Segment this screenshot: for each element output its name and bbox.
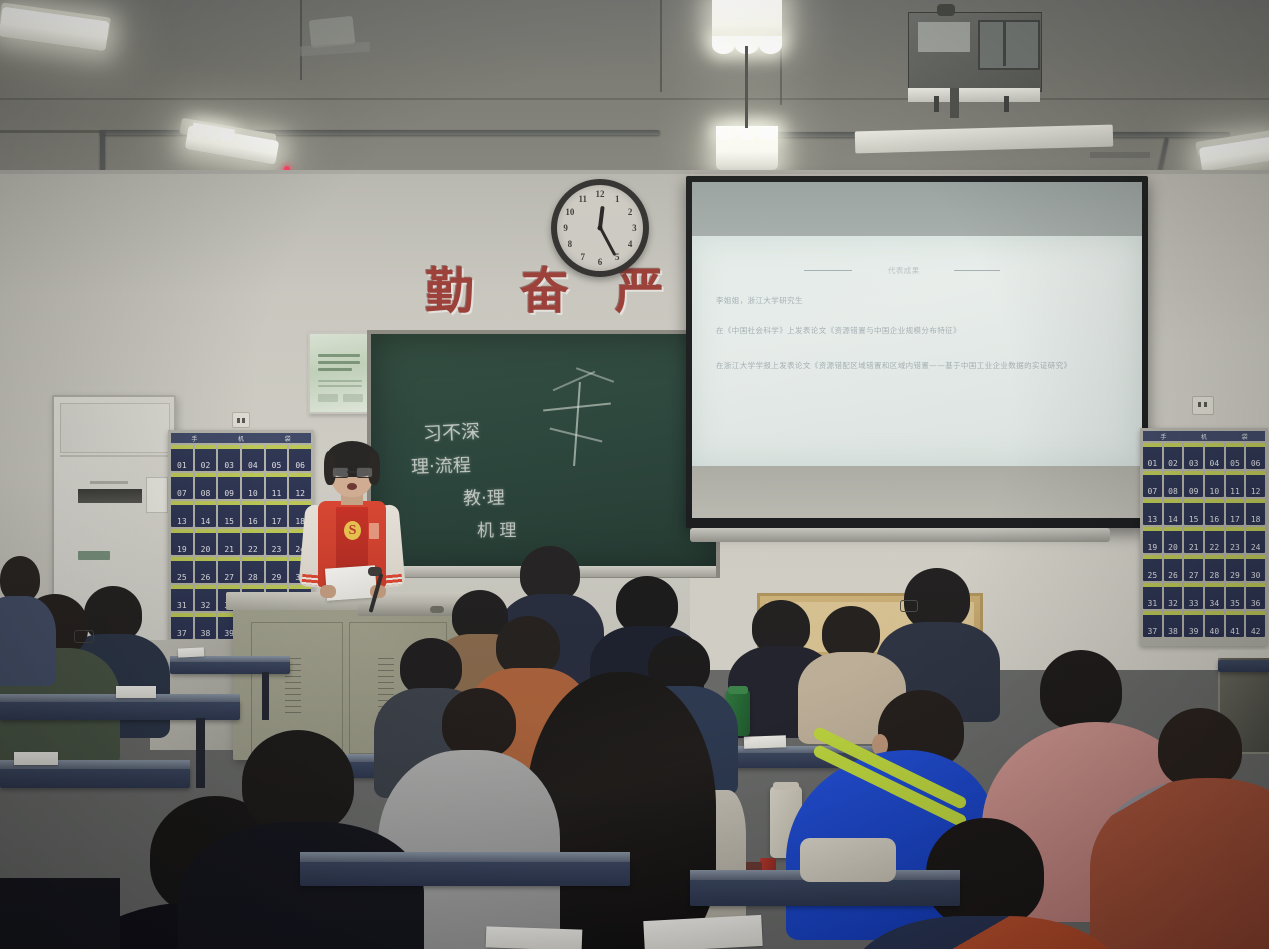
projector-window	[978, 20, 1040, 70]
clock-numeral: 2	[628, 207, 633, 217]
thermos-cap	[773, 782, 799, 790]
phone-pocket-11[interactable]: 11	[266, 473, 288, 499]
phone-pocket-11[interactable]: 11	[1226, 471, 1245, 497]
chalk-sketch-stroke	[573, 382, 581, 466]
phone-pocket-35[interactable]: 35	[1226, 583, 1245, 609]
phone-pocket-38[interactable]: 38	[1164, 611, 1183, 637]
presenter-mouth	[347, 483, 357, 490]
camera-mount	[937, 4, 955, 16]
phone-pocket-07[interactable]: 07	[1143, 471, 1162, 497]
chalk-sketch-stroke	[576, 367, 614, 383]
rack-label-char-3: 袋	[1242, 432, 1248, 441]
desk	[1218, 660, 1269, 672]
light-stem	[745, 46, 748, 128]
phone-pocket-13[interactable]: 13	[171, 501, 193, 527]
phone-pocket-37[interactable]: 37	[171, 613, 193, 639]
phone-pocket-21[interactable]: 21	[218, 529, 240, 555]
phone-pocket-16[interactable]: 16	[1205, 499, 1224, 525]
phone-pocket-22[interactable]: 22	[242, 529, 264, 555]
cabinet-top	[1218, 650, 1269, 658]
phone-pocket-05[interactable]: 05	[1226, 443, 1245, 469]
phone-pocket-03[interactable]: 03	[1184, 443, 1203, 469]
desk-leg	[196, 718, 205, 788]
glasses-lens-right	[356, 467, 373, 478]
wall-trim	[0, 170, 1269, 174]
chalk-text: 机 理	[477, 516, 516, 541]
phone-pocket-31[interactable]: 31	[171, 585, 193, 611]
ceiling-seam	[300, 0, 302, 80]
rack-label-char-2: 机	[238, 434, 244, 443]
phone-pocket-30[interactable]: 30	[1246, 555, 1265, 581]
presenter-hand-left	[320, 585, 336, 598]
chalk-text: 习不深	[422, 417, 480, 447]
presenter-at-podium: S	[296, 445, 408, 615]
screen-roller-bar	[690, 528, 1110, 542]
desk	[300, 860, 630, 886]
glasses-bridge	[347, 471, 356, 473]
wall-clock: 12 1 2 3 4 5 6 7 8 9 10 11	[551, 179, 649, 277]
clock-numeral: 12	[596, 189, 605, 199]
phone-pocket-15[interactable]: 15	[218, 501, 240, 527]
phone-pocket-02[interactable]: 02	[195, 445, 217, 471]
phone-pocket-07[interactable]: 07	[171, 473, 193, 499]
clock-numeral: 11	[579, 194, 588, 204]
presenter-shirt	[336, 507, 368, 573]
projector-window	[918, 22, 970, 52]
desk	[0, 700, 240, 720]
phone-pocket-24[interactable]: 24	[1246, 527, 1265, 553]
lectern-knob	[430, 606, 444, 613]
phone-pocket-22[interactable]: 22	[1205, 527, 1224, 553]
slogan-char-1: 勤	[425, 267, 474, 316]
desk	[170, 660, 290, 674]
paper-on-desk	[744, 735, 786, 748]
screen-lower-band	[692, 466, 1142, 518]
phone-pocket-38[interactable]: 38	[195, 613, 217, 639]
clock-center	[598, 226, 603, 231]
clock-numeral: 6	[598, 257, 603, 267]
phone-pocket-25[interactable]: 25	[1143, 555, 1162, 581]
phone-pocket-10[interactable]: 10	[242, 473, 264, 499]
phone-pocket-01[interactable]: 01	[171, 445, 193, 471]
power-outlet[interactable]	[232, 412, 250, 428]
chalk-text: 理·流程	[411, 451, 472, 479]
screen-upper-band	[692, 182, 1142, 238]
power-outlet[interactable]	[1192, 396, 1214, 415]
foreground-shadow	[0, 878, 120, 949]
phone-pocket-39[interactable]: 39	[1184, 611, 1203, 637]
paper-on-desk	[178, 647, 204, 657]
clock-numeral: 4	[628, 239, 633, 249]
phone-pocket-14[interactable]: 14	[1164, 499, 1183, 525]
phone-pocket-32[interactable]: 32	[1164, 583, 1183, 609]
phone-pocket-27[interactable]: 27	[218, 557, 240, 583]
glasses	[74, 630, 94, 643]
phone-pocket-37[interactable]: 37	[1143, 611, 1162, 637]
phone-pocket-40[interactable]: 40	[1205, 611, 1224, 637]
phone-pocket-08[interactable]: 08	[195, 473, 217, 499]
slide-line-1: 李姐姐，浙江大学研究生	[716, 295, 803, 306]
wall-poster	[308, 332, 372, 414]
slide-line-3: 在浙江大学学报上发表论文《资源错配区域错置和区域内错置——基于中国工业企业数据的…	[716, 360, 1072, 371]
glasses	[900, 600, 918, 612]
phone-pocket-17[interactable]: 17	[266, 501, 288, 527]
mount-bracket	[1004, 96, 1009, 112]
slogan-char-3: 严	[615, 267, 664, 316]
clock-numeral: 7	[581, 252, 586, 262]
phone-pocket-16[interactable]: 16	[242, 501, 264, 527]
ceiling	[0, 0, 1269, 185]
rack-label-char-3: 袋	[285, 434, 291, 443]
clock-numeral: 8	[568, 239, 573, 249]
phone-pocket-19[interactable]: 19	[1143, 527, 1162, 553]
screen-projection-area: 代表成果 李姐姐，浙江大学研究生 在《中国社会科学》上发表论文《资源错置与中国企…	[692, 236, 1142, 466]
phone-pocket-28[interactable]: 28	[1205, 555, 1224, 581]
desk	[690, 878, 960, 906]
phone-pocket-15[interactable]: 15	[1184, 499, 1203, 525]
rack-label-char-2: 机	[1201, 432, 1207, 441]
phone-pocket-26[interactable]: 26	[1164, 555, 1183, 581]
projector-mount	[908, 88, 1040, 102]
chalk-text: 教·理	[463, 484, 505, 511]
desk-leg	[262, 672, 269, 720]
ac-brand-label	[78, 551, 110, 560]
phone-pocket-41[interactable]: 41	[1226, 611, 1245, 637]
phone-pocket-04[interactable]: 04	[1205, 443, 1224, 469]
slide-header: 代表成果	[888, 265, 920, 276]
phone-pocket-42[interactable]: 42	[1246, 611, 1265, 637]
phone-pocket-02[interactable]: 02	[1164, 443, 1183, 469]
phone-pocket-26[interactable]: 26	[195, 557, 217, 583]
phone-pocket-36[interactable]: 36	[1246, 583, 1265, 609]
wall-marking	[1090, 152, 1150, 158]
phone-pocket-23[interactable]: 23	[266, 529, 288, 555]
phone-pocket-34[interactable]: 34	[1205, 583, 1224, 609]
bottle-cap	[728, 686, 748, 694]
phone-pocket-05[interactable]: 05	[266, 445, 288, 471]
phone-pocket-23[interactable]: 23	[1226, 527, 1245, 553]
phone-pocket-21[interactable]: 21	[1184, 527, 1203, 553]
slide-line-2: 在《中国社会科学》上发表论文《资源错置与中国企业规模分布特征》	[716, 325, 961, 336]
paper-on-desk	[14, 752, 58, 765]
paper-on-desk	[486, 926, 583, 949]
phone-pocket-20[interactable]: 20	[195, 529, 217, 555]
phone-pocket-25[interactable]: 25	[171, 557, 193, 583]
ceiling-seam	[660, 0, 662, 92]
phone-pocket-08[interactable]: 08	[1164, 471, 1183, 497]
green-blackboard: 习不深 理·流程 教·理 机 理	[367, 330, 720, 578]
pocket-grid: 0102030405060708091011121314151617181920…	[1143, 443, 1265, 637]
rack-label: 手 机 袋	[1143, 431, 1265, 441]
rack-label-char-1: 手	[1160, 432, 1166, 441]
phone-pocket-31[interactable]: 31	[1143, 583, 1162, 609]
projector-lens	[950, 88, 959, 118]
clock-numeral: 3	[632, 223, 637, 233]
paper-on-desk	[116, 686, 156, 698]
rack-label-char-1: 手	[191, 434, 197, 443]
phone-pocket-14[interactable]: 14	[195, 501, 217, 527]
light-scallop	[716, 126, 778, 140]
folded-cloth	[800, 838, 896, 882]
phone-pocket-18[interactable]: 18	[1246, 499, 1265, 525]
clock-numeral: 1	[615, 194, 620, 204]
phone-pocket-10[interactable]: 10	[1205, 471, 1224, 497]
phone-pocket-20[interactable]: 20	[1164, 527, 1183, 553]
phone-pocket-29[interactable]: 29	[1226, 555, 1245, 581]
paper-on-desk	[643, 915, 762, 949]
phone-pocket-29[interactable]: 29	[266, 557, 288, 583]
clock-numeral: 9	[563, 223, 568, 233]
rack-label: 手 机 袋	[171, 433, 311, 443]
phone-pocket-03[interactable]: 03	[218, 445, 240, 471]
desk	[0, 766, 190, 788]
phone-pocket-19[interactable]: 19	[171, 529, 193, 555]
phone-pocket-09[interactable]: 09	[218, 473, 240, 499]
phone-pocket-06[interactable]: 06	[1246, 443, 1265, 469]
phone-pocket-33[interactable]: 33	[1184, 583, 1203, 609]
mount-bracket	[934, 96, 939, 112]
phone-pocket-13[interactable]: 13	[1143, 499, 1162, 525]
projector-divider	[1003, 20, 1006, 66]
vest-badge	[369, 523, 379, 539]
phone-pocket-28[interactable]: 28	[242, 557, 264, 583]
desk-edge	[300, 852, 630, 862]
ceiling-seam	[0, 98, 1269, 100]
clock-numeral: 10	[565, 207, 574, 217]
projection-screen[interactable]: 代表成果 李姐姐，浙江大学研究生 在《中国社会科学》上发表论文《资源错置与中国企…	[686, 176, 1148, 528]
phone-pocket-rack-right[interactable]: 手 机 袋 0102030405060708091011121314151617…	[1140, 428, 1268, 646]
phone-pocket-09[interactable]: 09	[1184, 471, 1203, 497]
classroom-photo: 勤 奋 严 谨 12 1 2 3 4 5 6 7 8 9 10 11	[0, 0, 1269, 949]
phone-pocket-04[interactable]: 04	[242, 445, 264, 471]
phone-pocket-17[interactable]: 17	[1226, 499, 1245, 525]
vest-logo: S	[344, 521, 361, 540]
slogan-char-2: 奋	[520, 267, 569, 316]
phone-pocket-12[interactable]: 12	[1246, 471, 1265, 497]
phone-pocket-01[interactable]: 01	[1143, 443, 1162, 469]
phone-pocket-32[interactable]: 32	[195, 585, 217, 611]
phone-pocket-27[interactable]: 27	[1184, 555, 1203, 581]
